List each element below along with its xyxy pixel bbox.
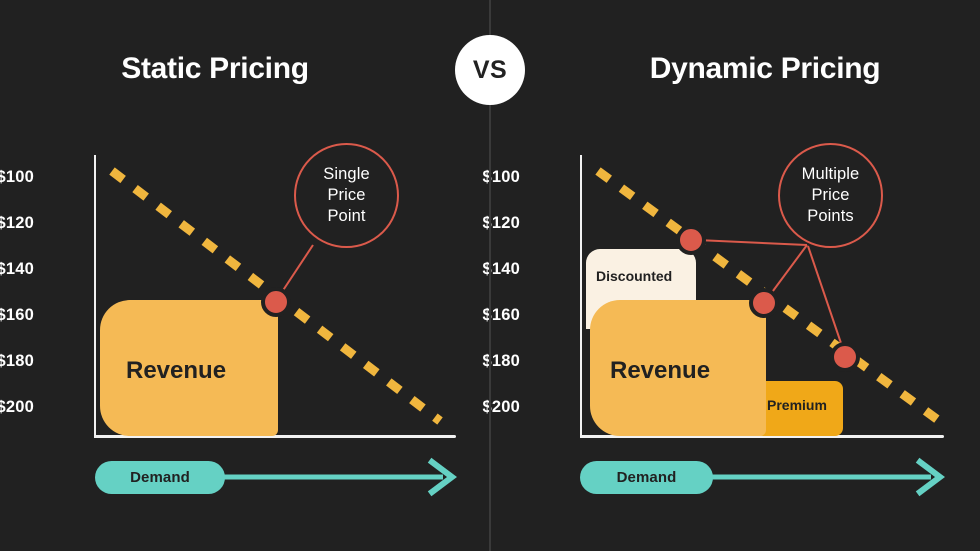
callout-multiple-price-points: Multiple Price Points <box>778 143 883 248</box>
callout-line-0: Multiple <box>802 164 860 185</box>
callout-line-2: Points <box>802 206 860 227</box>
demand-arrow-static <box>0 452 490 512</box>
demand-pill-static: Demand <box>95 461 225 494</box>
price-point-dot-premium[interactable] <box>830 342 860 372</box>
vs-label: VS <box>473 56 507 85</box>
demand-arrow-dynamic <box>490 452 980 512</box>
demand-pill-dynamic: Demand <box>580 461 713 494</box>
infographic-stage: Static Pricing $100 $120 $140 $160 $180 … <box>0 0 980 551</box>
callout-line-0: Single <box>323 164 369 185</box>
panel-dynamic-pricing: Dynamic Pricing $100 $120 $140 $160 $180… <box>490 0 980 551</box>
callout-text-static: Single Price Point <box>323 164 369 227</box>
price-point-dot-discounted[interactable] <box>676 225 706 255</box>
callout-line-2: Point <box>323 206 369 227</box>
price-point-dot-static[interactable] <box>261 287 291 317</box>
callout-line-1: Price <box>323 185 369 206</box>
price-point-dot-standard[interactable] <box>749 288 779 318</box>
callout-single-price-point: Single Price Point <box>294 143 399 248</box>
callout-text-dynamic: Multiple Price Points <box>802 164 860 227</box>
demand-label-dynamic: Demand <box>617 469 677 486</box>
demand-label-static: Demand <box>130 469 190 486</box>
vs-badge: VS <box>455 35 525 105</box>
callout-line-1: Price <box>802 185 860 206</box>
panel-static-pricing: Static Pricing $100 $120 $140 $160 $180 … <box>0 0 490 551</box>
